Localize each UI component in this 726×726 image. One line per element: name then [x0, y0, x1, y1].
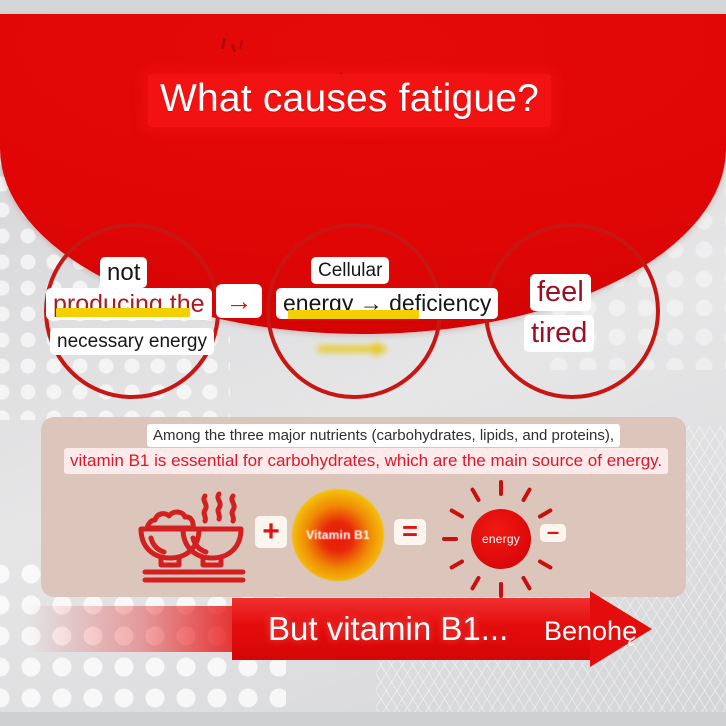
banner-brand-text: Benohę — [544, 612, 637, 650]
vitamin-b1-badge: Vitamin B1 — [292, 489, 384, 581]
circle3-line2: tired — [524, 315, 594, 352]
vitamin-b1-label: Vitamin B1 — [306, 528, 370, 542]
plus-operator-icon: + — [255, 516, 287, 548]
sun-ray — [537, 559, 553, 570]
circle1-highlight-bar — [56, 308, 190, 317]
blurred-arrow-svg — [316, 340, 390, 358]
panel-line-1: Among the three major nutrients (carbohy… — [147, 424, 620, 447]
bottom-edge-strip — [0, 712, 726, 726]
equals-operator-icon: = — [394, 519, 426, 545]
minus-operator-icon: – — [540, 524, 566, 542]
rice-bowls-svg — [133, 488, 261, 584]
sun-ray — [449, 508, 465, 519]
sun-ray — [521, 575, 532, 591]
sun-ray — [499, 582, 503, 598]
panel-line-2: vitamin B1 is essential for carbohydrate… — [64, 448, 668, 474]
banner-main-text: But vitamin B1... — [268, 608, 508, 650]
circle1-line3: necessary energy — [50, 328, 214, 355]
sun-ray — [470, 575, 481, 591]
banner-tail-gradient — [27, 606, 237, 652]
blurred-yellow-arrow-icon — [316, 340, 390, 358]
cta-banner: But vitamin B1... Benohę — [232, 598, 652, 660]
slide-title: What causes fatigue? — [148, 74, 551, 127]
energy-label: energy — [482, 532, 520, 546]
header-speck-icon — [221, 38, 226, 49]
sun-ray — [470, 487, 481, 503]
header-speck-icon — [239, 40, 242, 49]
rice-bowls-icon — [133, 488, 261, 584]
circle2-highlight-bar — [288, 310, 419, 319]
circle1-line1: not — [100, 257, 147, 288]
sun-ray — [499, 480, 503, 496]
slide-title-text: What causes fatigue? — [160, 77, 539, 120]
sun-ray — [521, 487, 532, 503]
slide-canvas: What causes fatigue? not producing the n… — [0, 0, 726, 726]
circle2-line1: Cellular — [311, 257, 389, 284]
sun-ray — [537, 508, 553, 519]
top-edge-strip — [0, 0, 726, 14]
circle-cause-3 — [484, 223, 660, 399]
circle3-line1: feel — [530, 274, 591, 311]
energy-core: energy — [471, 509, 531, 569]
header-speck-icon — [231, 44, 237, 53]
sun-ray — [449, 559, 465, 570]
sun-ray — [442, 537, 458, 541]
flow-arrow-icon: → — [216, 284, 262, 318]
